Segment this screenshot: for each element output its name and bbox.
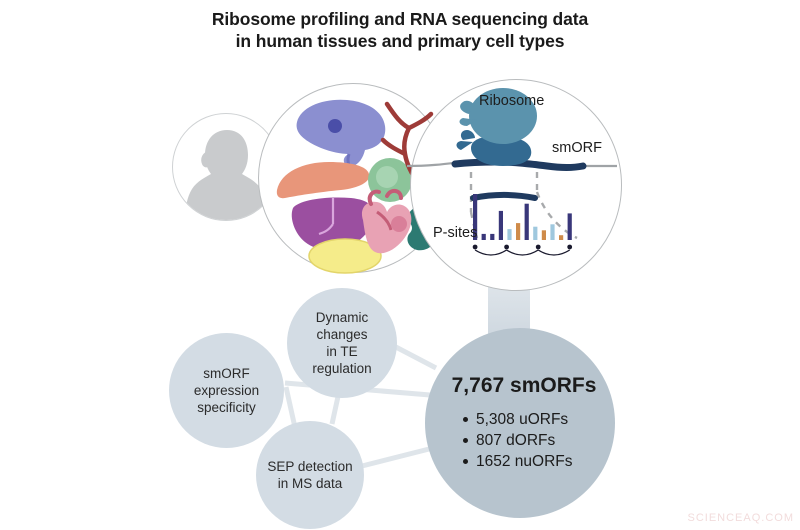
bubble-dynamic-line1: Dynamic bbox=[312, 309, 371, 326]
bubble-smorf-expression: smORF expression specificity bbox=[169, 333, 284, 448]
results-item-dorfs: 807 dORFs bbox=[463, 430, 573, 451]
codon-marker-dot bbox=[567, 245, 572, 250]
psites-bar bbox=[507, 229, 511, 240]
codon-marker-dot bbox=[473, 245, 478, 250]
watermark: SCIENCEAQ.COM bbox=[687, 512, 794, 524]
psites-bar bbox=[516, 223, 520, 240]
bubble-sep-line2: in MS data bbox=[267, 475, 352, 492]
psites-bar bbox=[568, 213, 572, 240]
ribosome-illustration bbox=[411, 80, 623, 292]
codon-marker-dot bbox=[504, 245, 509, 250]
ribosome-label: Ribosome bbox=[479, 93, 544, 109]
bubble-dynamic-te: Dynamic changes in TE regulation bbox=[287, 288, 397, 398]
bubble-dynamic-line2: changes bbox=[312, 326, 371, 343]
ribosome-circle bbox=[410, 79, 622, 291]
results-headline: 7,767 smORFs bbox=[447, 374, 615, 398]
bubble-expression-line2: expression bbox=[194, 382, 259, 399]
codon-marker-arc bbox=[507, 250, 539, 255]
psites-bar bbox=[525, 204, 529, 240]
lung-icon bbox=[277, 162, 369, 198]
bubble-expression-line3: specificity bbox=[194, 399, 259, 416]
smorf-label: smORF bbox=[552, 140, 602, 156]
cell-icon bbox=[368, 158, 412, 202]
results-item-uorfs: 5,308 uORFs bbox=[463, 409, 573, 430]
psites-bar bbox=[499, 211, 503, 240]
psites-bar bbox=[533, 227, 537, 240]
psites-bar bbox=[482, 234, 486, 240]
results-circle: 7,767 smORFs 5,308 uORFs 807 dORFs 1652 … bbox=[425, 328, 615, 518]
codon-marker-arc bbox=[475, 250, 507, 255]
psites-bar bbox=[559, 235, 563, 240]
bubble-sep-line1: SEP detection bbox=[267, 458, 352, 475]
codon-marker-dot bbox=[536, 245, 541, 250]
results-list: 5,308 uORFs 807 dORFs 1652 nuORFs bbox=[447, 409, 573, 472]
brain-icon bbox=[297, 100, 386, 168]
psites-codon-markers bbox=[473, 245, 572, 255]
psites-bar bbox=[550, 224, 554, 240]
psites-bar bbox=[542, 230, 546, 240]
psites-bars bbox=[473, 194, 572, 240]
codon-marker-arc bbox=[538, 250, 570, 255]
psites-bar bbox=[490, 234, 494, 240]
bubble-expression-line1: smORF bbox=[194, 365, 259, 382]
psites-label: P-sites bbox=[433, 225, 477, 241]
bubble-dynamic-line4: regulation bbox=[312, 360, 371, 377]
bubble-sep-detection: SEP detection in MS data bbox=[256, 421, 364, 529]
infographic-canvas: Ribosome profiling and RNA sequencing da… bbox=[0, 0, 800, 530]
results-item-nuorfs: 1652 nuORFs bbox=[463, 451, 573, 472]
bubble-dynamic-line3: in TE bbox=[312, 343, 371, 360]
